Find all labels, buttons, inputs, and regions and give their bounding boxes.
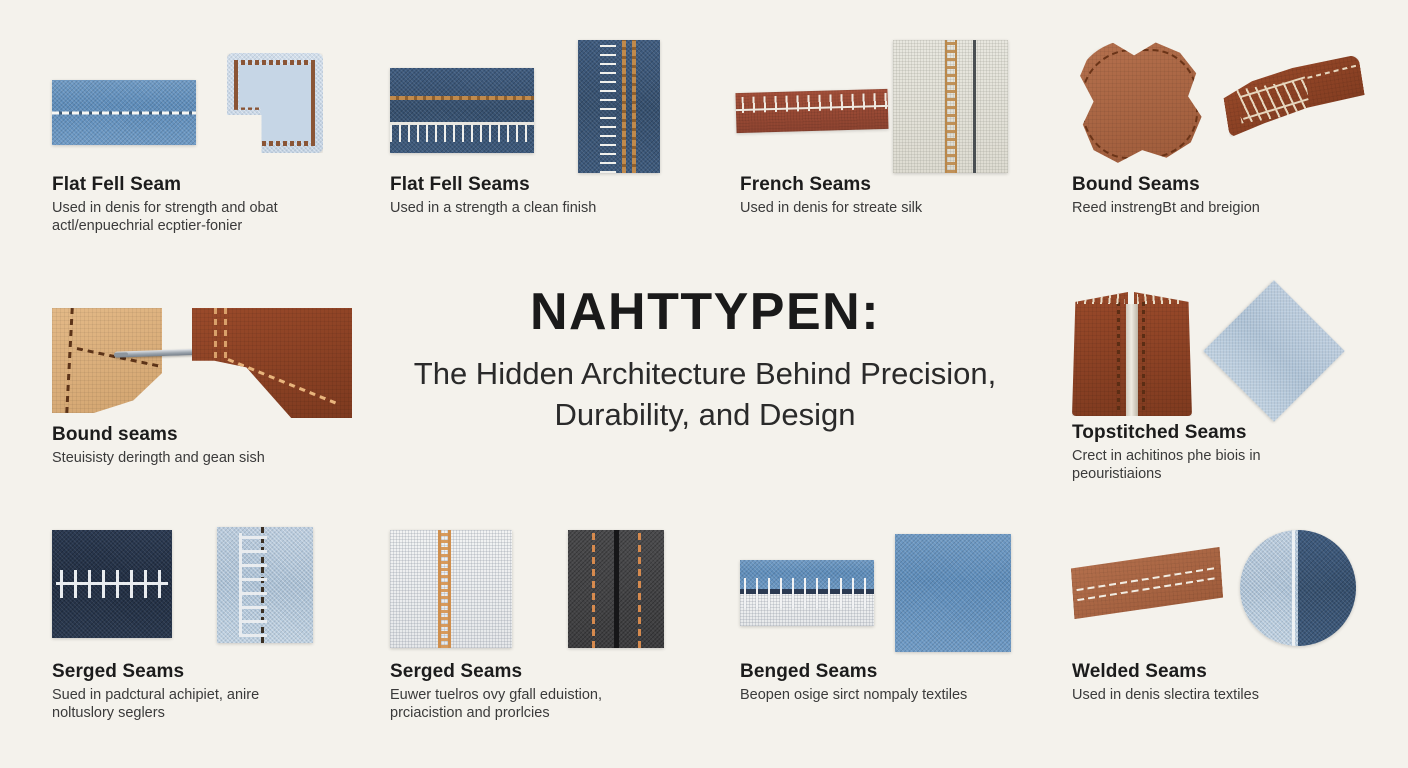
- card-title: Welded Seams: [1072, 662, 1372, 683]
- card-description: Used in denis slectira textiles: [1072, 686, 1342, 705]
- brown-leather-hide-dashed-outline: [1072, 40, 1207, 168]
- leather-strip-double-white-stitch: [1070, 547, 1224, 619]
- page-subtitle-line-1: The Hidden Architecture Behind Precision…: [380, 354, 1030, 395]
- card-title: Serged Seams: [390, 662, 690, 683]
- vertical-denim-zigzag-double-topstitch: [578, 40, 660, 173]
- denim-pocket-brown-topstitch: [227, 53, 323, 153]
- card-title: French Seams: [740, 175, 1040, 196]
- card-title: Bound seams: [52, 425, 352, 446]
- curved-leather-whipstitch-strip: [1220, 54, 1368, 137]
- card-description: Used in denis for strength and obat actl…: [52, 199, 322, 236]
- card-title: Serged Seams: [52, 662, 352, 683]
- card-welded-seams[interactable]: Welded Seams Used in denis slectira text…: [1072, 522, 1372, 704]
- card-title: Bound Seams: [1072, 175, 1372, 196]
- plain-denim-square: [895, 534, 1011, 652]
- white-canvas-orange-overlock: [390, 530, 512, 648]
- card-flat-fell-seam[interactable]: Flat Fell Seam Used in denis for strengt…: [52, 35, 352, 236]
- cream-canvas-zigzag-dark-line: [893, 40, 1008, 173]
- card-description: Sued in padctural achipiet, anire noltus…: [52, 686, 322, 723]
- brown-leather-panel-curved-topstitch: [192, 308, 352, 418]
- card-bound-seams-top[interactable]: Bound Seams Reed instrengBt and breigion: [1072, 35, 1372, 217]
- dark-denim-tan-topstitch-serged-edge: [390, 68, 534, 153]
- card-artwork: [1072, 35, 1372, 175]
- card-title: Benged Seams: [740, 662, 1040, 683]
- card-artwork: [390, 35, 690, 175]
- card-artwork: [1072, 283, 1372, 423]
- card-french-seams[interactable]: French Seams Used in denis for streate s…: [740, 35, 1040, 217]
- card-description: Steuisisty deringth and gean sish: [52, 449, 322, 468]
- card-description: Used in a strength a clean finish: [390, 199, 660, 218]
- infographic-poster: NAHTTYPEN: The Hidden Architecture Behin…: [0, 0, 1408, 768]
- denim-circle-seam: [1240, 530, 1356, 646]
- card-serged-seams-mid[interactable]: Serged Seams Euwer tuelros ovy gfall edu…: [390, 522, 690, 723]
- rust-leather-blanket-stitch-strip: [735, 89, 888, 133]
- denim-rectangle-white-stitch: [52, 80, 196, 145]
- headline-block: NAHTTYPEN: The Hidden Architecture Behin…: [380, 286, 1030, 436]
- card-title: Flat Fell Seams: [390, 175, 690, 196]
- card-title: Topstitched Seams: [1072, 423, 1372, 444]
- card-benged-seams[interactable]: Benged Seams Beopen osige sirct nompaly …: [740, 522, 1040, 704]
- card-artwork: [1072, 522, 1372, 662]
- open-leather-butterfly-seam: [1072, 288, 1194, 416]
- card-artwork: [52, 522, 352, 662]
- card-title: Flat Fell Seam: [52, 175, 352, 196]
- denim-ladder-stitch: [217, 527, 313, 643]
- page-title: NAHTTYPEN:: [380, 286, 1030, 338]
- card-description: Beopen osige sirct nompaly textiles: [740, 686, 1010, 705]
- page-subtitle: The Hidden Architecture Behind Precision…: [380, 354, 1030, 436]
- card-serged-seams-left[interactable]: Serged Seams Sued in padctural achipiet,…: [52, 522, 352, 723]
- denim-white-joined-seam: [740, 560, 874, 626]
- card-flat-fell-seams[interactable]: Flat Fell Seams Used in a strength a cle…: [390, 35, 690, 217]
- tan-leather-panel-dashed-stitch: [52, 308, 162, 413]
- card-artwork: [390, 522, 690, 662]
- card-artwork: [52, 35, 352, 175]
- page-subtitle-line-2: Durability, and Design: [380, 395, 1030, 436]
- card-topstitched-seams[interactable]: Topstitched Seams Crect in achitinos phe…: [1072, 283, 1372, 484]
- card-description: Used in denis for streate silk: [740, 199, 1010, 218]
- charcoal-panels-orange-topstitch: [568, 530, 664, 648]
- light-denim-diamond: [1203, 280, 1344, 421]
- card-description: Crect in achitinos phe biois in peourist…: [1072, 447, 1342, 484]
- card-artwork: [52, 290, 352, 425]
- card-artwork: [740, 522, 1040, 662]
- card-artwork: [740, 35, 1040, 175]
- card-bound-seams-mid[interactable]: Bound seams Steuisisty deringth and gean…: [52, 290, 352, 467]
- card-description: Reed instrengBt and breigion: [1072, 199, 1342, 218]
- card-description: Euwer tuelros ovy gfall eduistion, prcia…: [390, 686, 660, 723]
- navy-denim-comb-stitch: [52, 530, 172, 638]
